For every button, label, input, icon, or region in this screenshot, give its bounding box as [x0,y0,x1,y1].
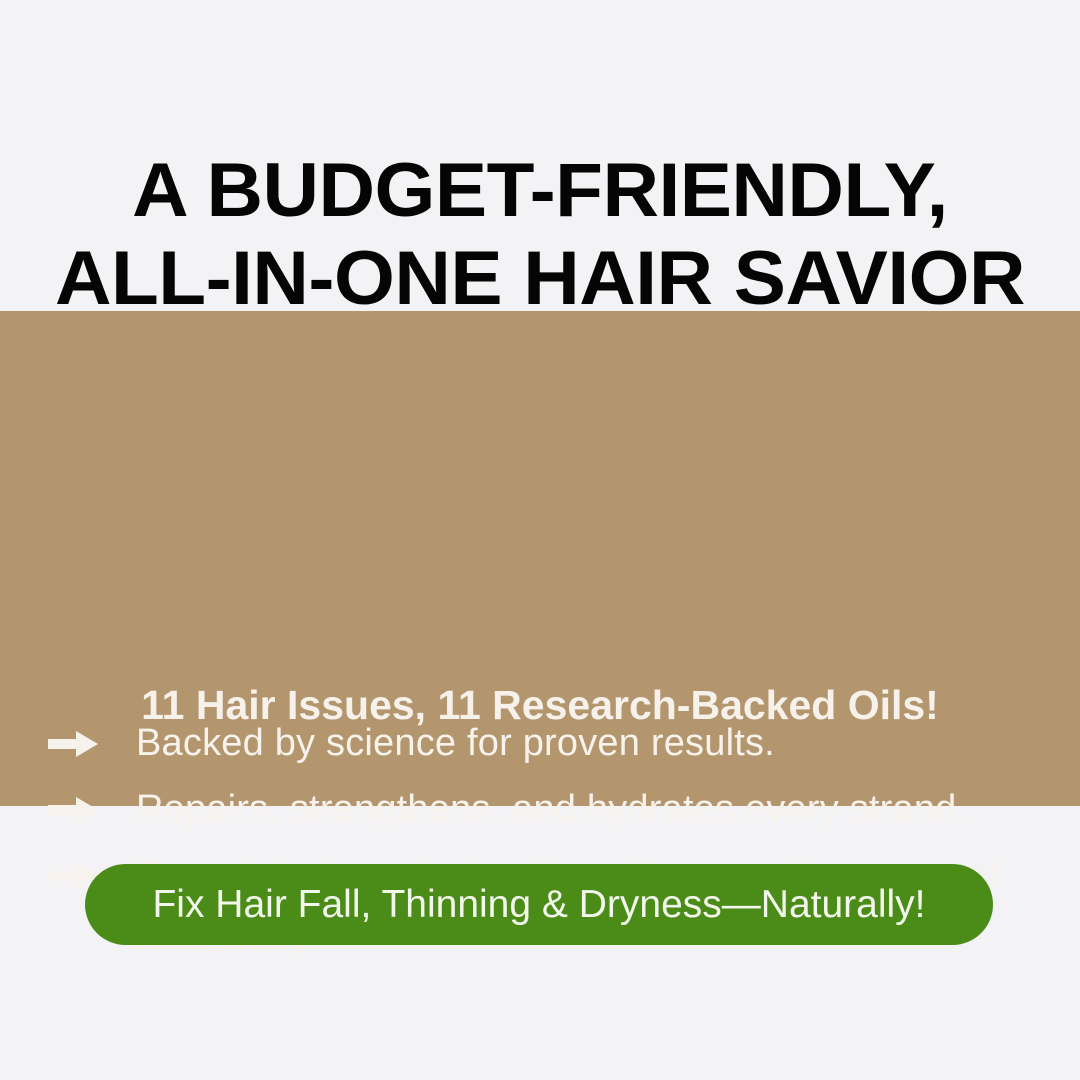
right-arrow-icon [48,797,98,823]
list-item: Backed by science for proven results. [0,711,1080,775]
list-item-label: Backed by science for proven results. [136,711,1000,775]
list-item: Repairs, strengthens, and hydrates every… [0,777,1080,841]
list-item-label: Repairs, strengthens, and hydrates every… [136,777,1000,841]
page-title: A BUDGET-FRIENDLY, ALL-IN-ONE HAIR SAVIO… [0,147,1080,323]
feature-panel: 11 Hair Issues, 11 Research-Backed Oils!… [0,311,1080,806]
cta-button[interactable]: Fix Hair Fall, Thinning & Dryness—Natura… [85,864,993,945]
right-arrow-icon [48,731,98,757]
headline-line-2: ALL-IN-ONE HAIR SAVIOR [0,235,1080,323]
promo-poster: A BUDGET-FRIENDLY, ALL-IN-ONE HAIR SAVIO… [0,0,1080,1080]
headline-line-1: A BUDGET-FRIENDLY, [0,147,1080,235]
